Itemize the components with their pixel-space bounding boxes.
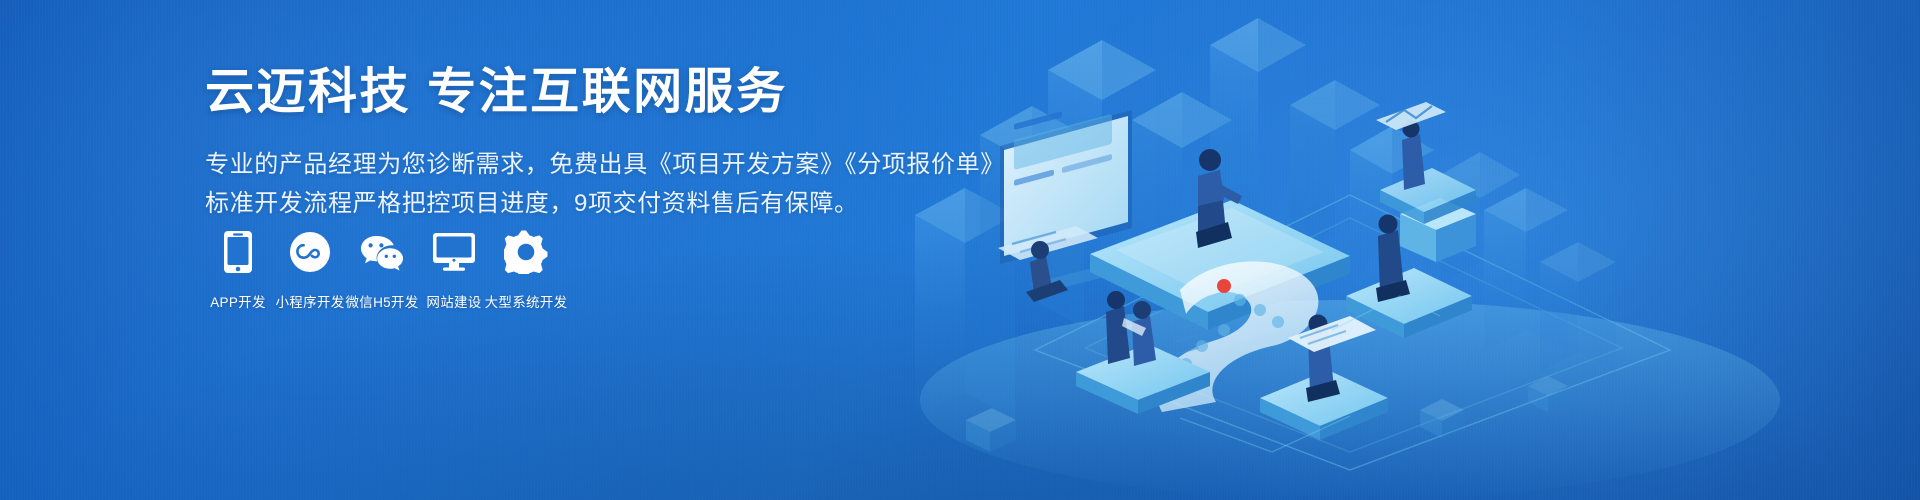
mini-program-icon: [289, 229, 331, 275]
isometric-tech-illustration: [880, 0, 1920, 500]
service-item-wechat[interactable]: 微信H5开发: [346, 229, 418, 311]
hero-subtitle: 专业的产品经理为您诊断需求，免费出具《项目开发方案》《分项报价单》 标准开发流程…: [205, 146, 925, 224]
service-item-system[interactable]: 大型系统开发: [490, 229, 562, 311]
hero-text-block: 云迈科技 专注互联网服务 专业的产品经理为您诊断需求，免费出具《项目开发方案》《…: [205, 64, 925, 224]
accent-dot: [1217, 279, 1231, 293]
service-label-app: APP开发: [202, 291, 274, 311]
service-item-app[interactable]: APP开发: [202, 229, 274, 311]
subtitle-line-2: 标准开发流程严格把控项目进度，9项交付资料售后有保障。: [205, 185, 925, 224]
service-label-system: 大型系统开发: [485, 291, 568, 311]
hero-banner: 云迈科技 专注互联网服务 专业的产品经理为您诊断需求，免费出具《项目开发方案》《…: [0, 0, 1920, 500]
service-label-wechat: 微信H5开发: [345, 291, 418, 311]
service-item-website[interactable]: 网站建设: [418, 229, 490, 311]
subtitle-line-1: 专业的产品经理为您诊断需求，免费出具《项目开发方案》《分项报价单》: [205, 146, 925, 185]
service-item-miniprogram[interactable]: 小程序开发: [274, 229, 346, 311]
gear-icon: [504, 229, 548, 275]
mobile-phone-icon: [223, 229, 253, 275]
wechat-icon: [358, 229, 406, 275]
service-label-website: 网站建设: [426, 291, 481, 311]
worker-figure-upper-right: [1402, 121, 1425, 191]
page-title: 云迈科技 专注互联网服务: [205, 64, 925, 120]
service-icon-row: APP开发 小程序开发 微信: [202, 229, 562, 311]
service-label-miniprogram: 小程序开发: [276, 291, 345, 311]
monitor-icon: [432, 229, 476, 275]
